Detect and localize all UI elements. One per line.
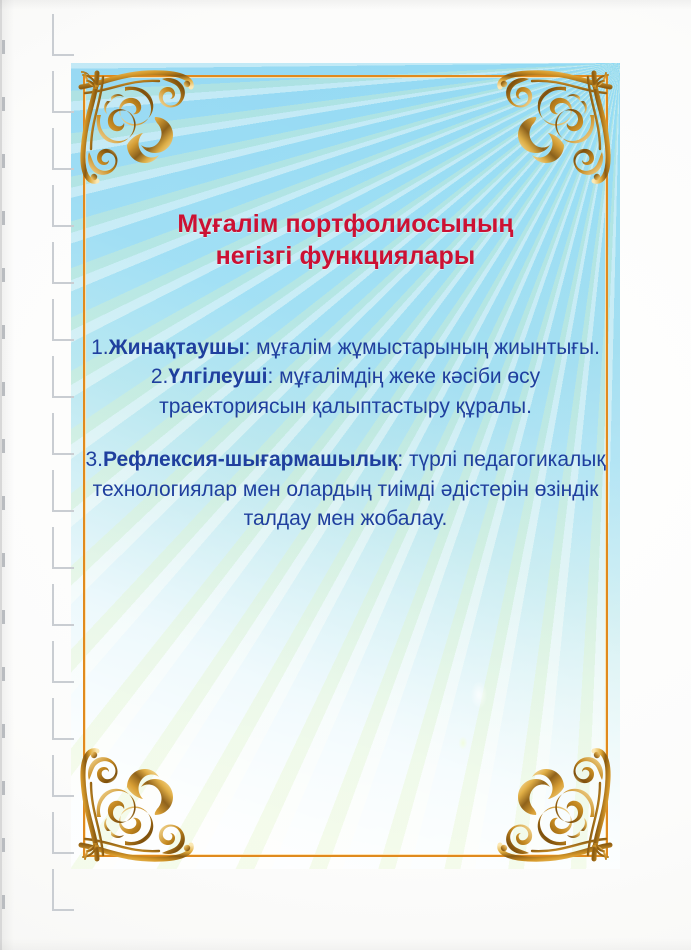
spiral-binding-hole-mark	[52, 299, 74, 341]
spiral-binding-hole-mark	[52, 185, 74, 227]
spiral-binding-hole-mark	[52, 128, 74, 170]
list-item-2-separator: :	[267, 365, 279, 388]
poster-content: Мұғалім портфолиосының негізгі функцияла…	[71, 63, 620, 869]
page-edge-nick	[2, 667, 5, 681]
list-item-3-lead: Рефлексия-шығармашылық	[103, 448, 397, 471]
page-edge-nick	[2, 154, 5, 168]
list-item-1-number: 1.	[91, 336, 109, 359]
list-item-3-number: 3.	[85, 448, 103, 471]
scanned-page: Мұғалім портфолиосының негізгі функцияла…	[0, 0, 691, 950]
spiral-binding-hole-mark	[52, 755, 74, 797]
page-edge-nick	[2, 781, 5, 795]
spiral-binding-hole-mark	[52, 584, 74, 626]
spiral-binding-hole-mark	[52, 71, 74, 113]
list-item-1-separator: :	[244, 336, 256, 359]
list-item-2: 2.Үлгілеуші: мұғалімдің жеке кәсіби өсу …	[85, 362, 606, 421]
poster-title: Мұғалім портфолиосының негізгі функцияла…	[107, 208, 584, 272]
page-edge-nick	[2, 211, 5, 225]
decorative-poster: Мұғалім портфолиосының негізгі функцияла…	[71, 63, 620, 869]
spiral-binding-hole-mark	[52, 641, 74, 683]
page-edge-nick	[2, 724, 5, 738]
page-edge-nick	[2, 325, 5, 339]
poster-body: 1.Жинақтаушы: мұғалім жұмыстарының жиынт…	[85, 333, 606, 533]
list-item-2-lead: Үлгілеуші	[168, 365, 267, 388]
list-item-1: 1.Жинақтаушы: мұғалім жұмыстарының жиынт…	[85, 333, 606, 362]
list-item-3-separator: :	[397, 448, 409, 471]
poster-title-line-2: негізгі функциялары	[107, 240, 584, 272]
page-edge-nick	[2, 382, 5, 396]
spiral-binding-hole-mark	[52, 14, 74, 56]
spiral-binding-hole-mark	[52, 869, 74, 911]
page-edge-nick	[2, 496, 5, 510]
spiral-binding-hole-mark	[52, 356, 74, 398]
spiral-binding-hole-mark	[52, 812, 74, 854]
spiral-binding-hole-mark	[52, 698, 74, 740]
list-item-2-number: 2.	[151, 365, 169, 388]
page-edge-nick	[2, 268, 5, 282]
page-edge-nick	[2, 439, 5, 453]
page-edge-nick	[2, 553, 5, 567]
spiral-binding-hole-mark	[52, 242, 74, 284]
page-left-edge	[0, 0, 2, 950]
list-item-3: 3.Рефлексия-шығармашылық: түрлі педагоги…	[85, 445, 606, 533]
spiral-binding-hole-mark	[52, 527, 74, 569]
page-edge-nick	[2, 895, 5, 909]
list-item-1-lead: Жинақтаушы	[109, 336, 245, 359]
page-edge-nick	[2, 838, 5, 852]
page-edge-nick	[2, 610, 5, 624]
poster-title-line-1: Мұғалім портфолиосының	[107, 208, 584, 240]
page-edge-nick	[2, 97, 5, 111]
page-edge-nick	[2, 40, 5, 54]
list-item-1-text: мұғалім жұмыстарының жиынтығы.	[256, 336, 600, 359]
spiral-binding-hole-mark	[52, 413, 74, 455]
spiral-binding-column	[52, 14, 82, 934]
spiral-binding-hole-mark	[52, 470, 74, 512]
